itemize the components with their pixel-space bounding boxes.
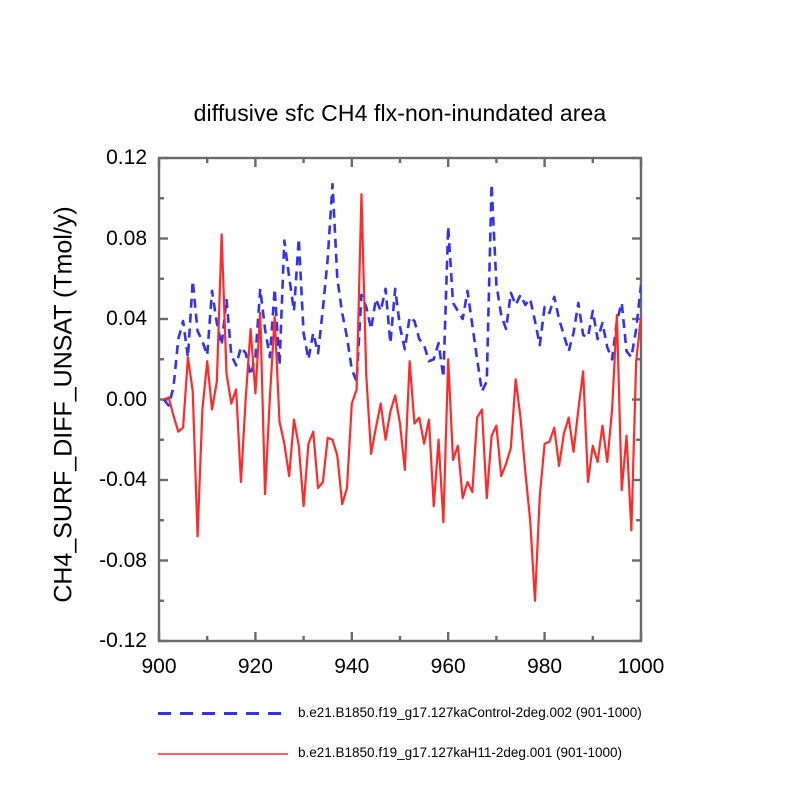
legend-swatch-solid [158, 753, 288, 755]
chart-legend: b.e21.B1850.f19_g17.127kaControl-2deg.00… [0, 0, 800, 800]
chart-figure: diffusive sfc CH4 flx-non-inundated area… [0, 0, 800, 800]
legend-item: b.e21.B1850.f19_g17.127kaControl-2deg.00… [150, 703, 770, 729]
legend-label: b.e21.B1850.f19_g17.127kaH11-2deg.001 (9… [298, 743, 622, 763]
legend-label: b.e21.B1850.f19_g17.127kaControl-2deg.00… [298, 703, 642, 723]
legend-swatch-dashed [158, 712, 288, 715]
legend-item: b.e21.B1850.f19_g17.127kaH11-2deg.001 (9… [150, 743, 770, 769]
